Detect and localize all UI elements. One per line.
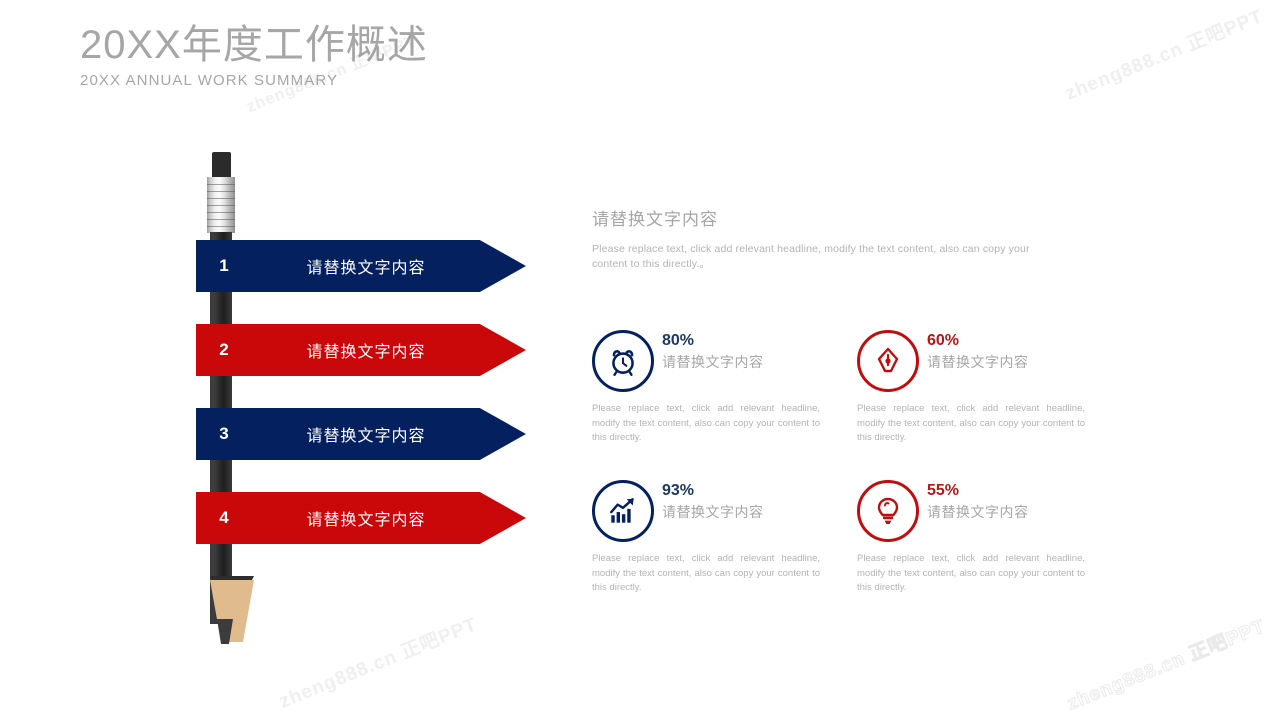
stats-grid: 80% 请替换文字内容 Please replace text, click a…: [592, 330, 1092, 630]
stat-labels-1: 80% 请替换文字内容: [662, 330, 764, 372]
stat-percent-1: 80%: [662, 332, 764, 350]
step-number-2: 2: [196, 340, 252, 360]
pencil-ferrule-icon: [207, 177, 235, 233]
stat-label-4: 请替换文字内容: [927, 502, 1029, 522]
stat-card-1[interactable]: 80% 请替换文字内容 Please replace text, click a…: [592, 330, 857, 480]
page-title-block: 20XX年度工作概述 20XX ANNUAL WORK SUMMARY: [80, 22, 428, 89]
alarm-clock-icon: [592, 330, 654, 392]
stat-card-4[interactable]: 55% 请替换文字内容 Please replace text, click a…: [857, 480, 1122, 630]
page-title: 20XX年度工作概述: [80, 22, 428, 68]
stat-label-3: 请替换文字内容: [662, 502, 764, 522]
stat-percent-2: 60%: [927, 332, 1029, 350]
pencil-eraser-icon: [212, 152, 231, 178]
pencil-graphic: [206, 152, 236, 642]
stat-header-4: 55% 请替换文字内容: [857, 480, 1122, 542]
step-banner-3[interactable]: 3 请替换文字内容: [196, 408, 526, 460]
step-number-1: 1: [196, 256, 252, 276]
stat-label-1: 请替换文字内容: [662, 352, 764, 372]
stat-labels-3: 93% 请替换文字内容: [662, 480, 764, 522]
watermark-top-right: zheng888.cn 正吧PPT: [1061, 1, 1267, 105]
watermark-bottom-left: zheng888.cn 正吧PPT: [275, 609, 481, 713]
stat-body-3: Please replace text, click add relevant …: [592, 552, 820, 596]
stat-card-3[interactable]: 93% 请替换文字内容 Please replace text, click a…: [592, 480, 857, 630]
step-label-1: 请替换文字内容: [252, 254, 526, 278]
stat-labels-2: 60% 请替换文字内容: [927, 330, 1029, 372]
stat-percent-4: 55%: [927, 482, 1029, 500]
stat-header-1: 80% 请替换文字内容: [592, 330, 857, 392]
step-label-3: 请替换文字内容: [252, 422, 526, 446]
stat-header-3: 93% 请替换文字内容: [592, 480, 857, 542]
pencil-lead-icon: [217, 619, 233, 644]
stat-body-1: Please replace text, click add relevant …: [592, 402, 820, 446]
step-label-2: 请替换文字内容: [252, 338, 526, 362]
pen-nib-icon: [857, 330, 919, 392]
stat-body-2: Please replace text, click add relevant …: [857, 402, 1085, 446]
intro-title: 请替换文字内容: [592, 205, 1032, 230]
stat-header-2: 60% 请替换文字内容: [857, 330, 1122, 392]
stat-labels-4: 55% 请替换文字内容: [927, 480, 1029, 522]
step-number-4: 4: [196, 508, 252, 528]
step-number-3: 3: [196, 424, 252, 444]
step-banner-2[interactable]: 2 请替换文字内容: [196, 324, 526, 376]
stat-percent-3: 93%: [662, 482, 764, 500]
step-banner-1[interactable]: 1 请替换文字内容: [196, 240, 526, 292]
page-subtitle: 20XX ANNUAL WORK SUMMARY: [80, 72, 428, 89]
intro-block: 请替换文字内容 Please replace text, click add r…: [592, 205, 1032, 272]
intro-body: Please replace text, click add relevant …: [592, 242, 1032, 272]
lightbulb-icon: [857, 480, 919, 542]
growth-chart-icon: [592, 480, 654, 542]
stat-label-2: 请替换文字内容: [927, 352, 1029, 372]
stat-card-2[interactable]: 60% 请替换文字内容 Please replace text, click a…: [857, 330, 1122, 480]
stat-body-4: Please replace text, click add relevant …: [857, 552, 1085, 596]
step-label-4: 请替换文字内容: [252, 506, 526, 530]
step-banner-4[interactable]: 4 请替换文字内容: [196, 492, 526, 544]
